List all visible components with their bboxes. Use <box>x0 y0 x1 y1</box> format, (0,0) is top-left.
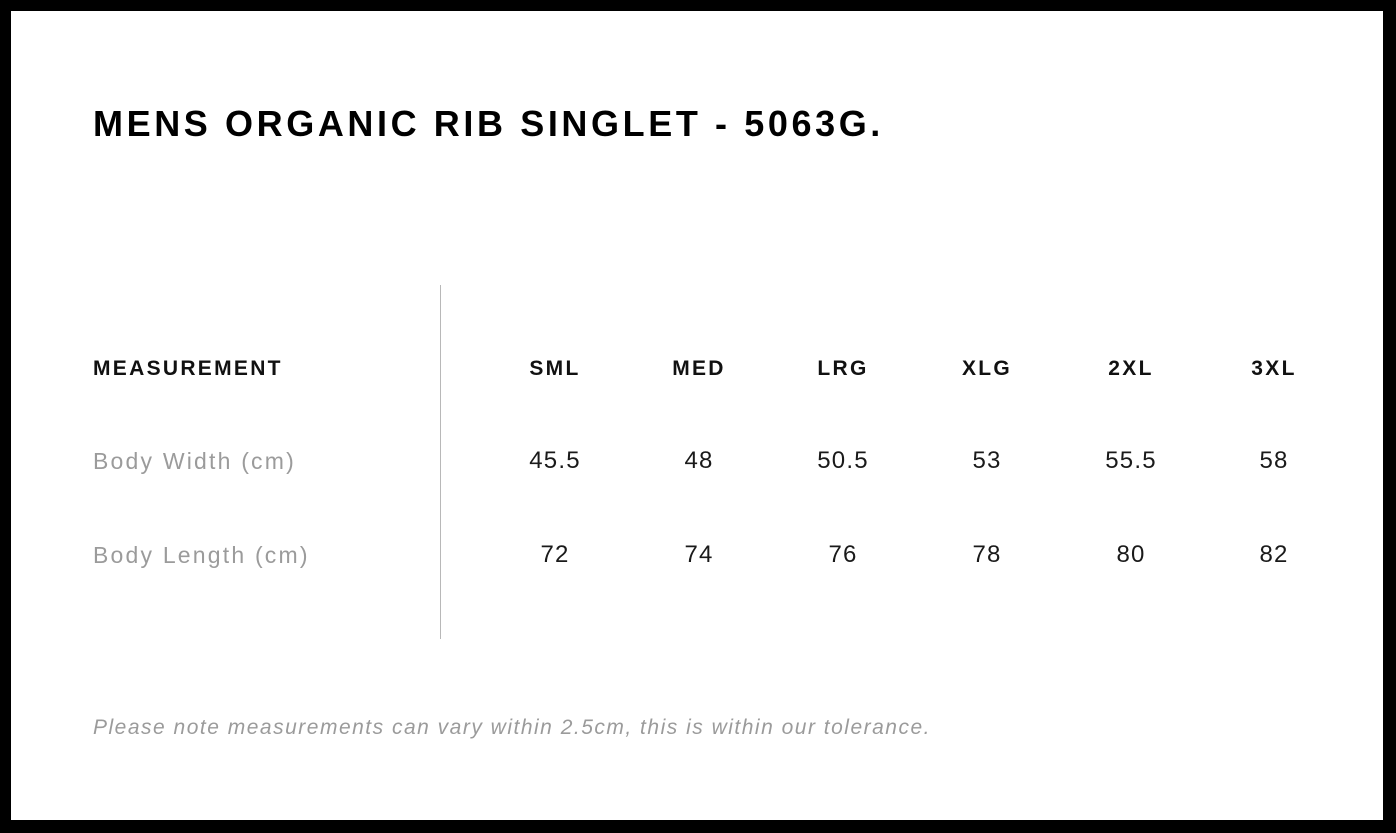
size-chart-page: MENS ORGANIC RIB SINGLET - 5063G. MEASUR… <box>11 11 1383 820</box>
page-border-frame: MENS ORGANIC RIB SINGLET - 5063G. MEASUR… <box>0 0 1396 833</box>
cell-body-length-3xl: 82 <box>1209 541 1339 569</box>
column-header-2xl: 2XL <box>1066 357 1196 381</box>
cell-body-width-sml: 45.5 <box>490 447 620 475</box>
column-header-3xl: 3XL <box>1209 357 1339 381</box>
cell-body-width-lrg: 50.5 <box>778 447 908 475</box>
row-label-body-length: Body Length (cm) <box>93 542 423 569</box>
cell-body-length-2xl: 80 <box>1066 541 1196 569</box>
tolerance-footnote: Please note measurements can vary within… <box>93 716 931 740</box>
column-header-med: MED <box>634 357 764 381</box>
cell-body-length-xlg: 78 <box>922 541 1052 569</box>
cell-body-length-lrg: 76 <box>778 541 908 569</box>
table-row: Body Width (cm) 45.5 48 50.5 53 55.5 58 <box>11 441 1383 481</box>
table-row: Body Length (cm) 72 74 76 78 80 82 <box>11 535 1383 575</box>
page-title: MENS ORGANIC RIB SINGLET - 5063G. <box>93 103 884 145</box>
cell-body-length-sml: 72 <box>490 541 620 569</box>
cell-body-width-xlg: 53 <box>922 447 1052 475</box>
column-header-lrg: LRG <box>778 357 908 381</box>
column-header-xlg: XLG <box>922 357 1052 381</box>
table-header-row: MEASUREMENT SML MED LRG XLG 2XL 3XL <box>11 349 1383 389</box>
row-label-body-width: Body Width (cm) <box>93 448 423 475</box>
column-header-measurement: MEASUREMENT <box>93 357 423 381</box>
cell-body-width-3xl: 58 <box>1209 447 1339 475</box>
column-header-sml: SML <box>490 357 620 381</box>
cell-body-length-med: 74 <box>634 541 764 569</box>
cell-body-width-2xl: 55.5 <box>1066 447 1196 475</box>
cell-body-width-med: 48 <box>634 447 764 475</box>
